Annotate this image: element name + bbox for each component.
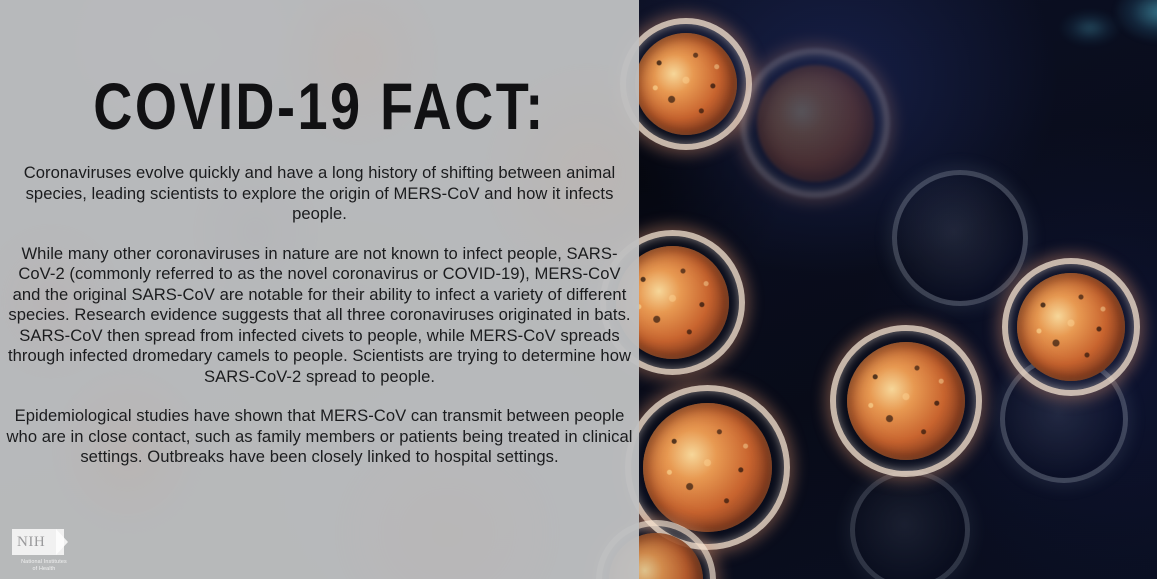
- fact-body: Coronaviruses evolve quickly and have a …: [4, 163, 635, 468]
- text-panel: COVID-19 FACT: Coronaviruses evolve quic…: [0, 0, 639, 579]
- page-title: COVID-19 FACT:: [58, 72, 582, 140]
- nih-subtitle-line-1: National Institutes: [12, 559, 76, 566]
- nih-logo-text: NIH: [12, 535, 45, 550]
- paragraph-1: Coronaviruses evolve quickly and have a …: [4, 163, 635, 225]
- paragraph-3: Epidemiological studies have shown that …: [4, 406, 635, 468]
- nih-logo-mark: NIH: [12, 529, 64, 555]
- nih-logo: NIH National Institutes of Health: [12, 529, 76, 573]
- covid-fact-poster: COVID-19 FACT: Coronaviruses evolve quic…: [0, 0, 1157, 579]
- nih-logo-subtitle: National Institutes of Health: [12, 559, 76, 573]
- paragraph-2: While many other coronaviruses in nature…: [4, 244, 635, 388]
- nih-subtitle-line-2: of Health: [12, 566, 76, 573]
- chevron-right-icon: [56, 529, 68, 555]
